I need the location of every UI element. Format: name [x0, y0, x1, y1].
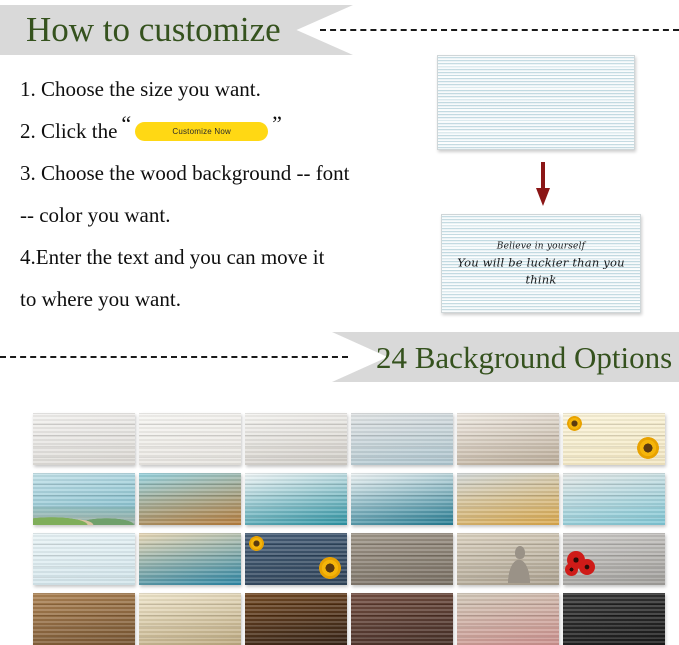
swatch-whitewashed-plank[interactable] — [33, 413, 135, 465]
step-4-line-2: to where you want. — [20, 278, 410, 320]
swatch-turquoise-rustic-plank[interactable] — [139, 473, 241, 525]
swatch-cream-sunflower[interactable] — [563, 413, 665, 465]
infographic-canvas: How to customize 1. Choose the size you … — [0, 0, 679, 642]
step-1: 1. Choose the size you want. — [20, 68, 410, 110]
swatch-navy-wood-sunflower[interactable] — [245, 533, 347, 585]
swatch-buddha-zen-wood[interactable] — [457, 533, 559, 585]
background-options-title: 24 Background Options — [376, 334, 672, 382]
banner-top-dashed-line — [320, 29, 679, 31]
swatch-aqua-weathered-plank[interactable] — [563, 473, 665, 525]
wood-grain — [563, 473, 665, 525]
wood-grain — [351, 533, 453, 585]
wood-grain — [457, 593, 559, 645]
buddha-head-icon — [515, 546, 525, 559]
swatch-vintage-parchment[interactable] — [139, 593, 241, 645]
swatch-golden-sunset-water[interactable] — [457, 473, 559, 525]
step-3-line-1: 3. Choose the wood background -- font — [20, 152, 410, 194]
wood-grain — [33, 413, 135, 465]
step-4-text-line-2: to where you want. — [20, 287, 181, 311]
sign-quote-line-1: Believe in yourself — [442, 239, 640, 254]
wood-grain — [563, 593, 665, 645]
wood-grain — [351, 473, 453, 525]
customize-now-button[interactable]: Customize Now — [135, 122, 268, 141]
step-1-text: 1. Choose the size you want. — [20, 77, 261, 101]
poppy-flower-icon — [565, 563, 578, 576]
quote-close: ” — [272, 103, 282, 145]
blank-sign-preview — [437, 55, 635, 150]
swatch-blue-gray-brick-plank[interactable] — [351, 413, 453, 465]
swatch-soft-white-wood[interactable] — [139, 413, 241, 465]
wood-grain — [139, 593, 241, 645]
wood-grain — [139, 533, 241, 585]
sign-quote-line-2: You will be luckier than you think — [442, 254, 640, 288]
wood-grain — [245, 473, 347, 525]
swatch-gray-wood-red-poppies[interactable] — [563, 533, 665, 585]
swatch-distressed-taupe-wood[interactable] — [457, 413, 559, 465]
wood-texture — [438, 56, 634, 149]
swatch-pale-blue-wood[interactable] — [33, 533, 135, 585]
wood-grain — [33, 593, 135, 645]
banner-bottom-dashed-line — [0, 356, 348, 358]
wood-grain — [351, 593, 453, 645]
wood-grain — [245, 413, 347, 465]
swatch-beach-shoreline[interactable] — [139, 533, 241, 585]
poppy-flower-icon — [579, 559, 595, 575]
wood-grain — [245, 593, 347, 645]
step-4-line-1: 4.Enter the text and you can move it — [20, 236, 410, 278]
wood-grain — [457, 413, 559, 465]
step-2-prefix: 2. Click the — [20, 110, 117, 152]
swatch-deep-mahogany-plank[interactable] — [351, 593, 453, 645]
wood-grain — [139, 413, 241, 465]
instruction-list: 1. Choose the size you want. 2. Click th… — [20, 68, 410, 320]
page-title: How to customize — [26, 6, 281, 54]
sunflower-icon — [637, 437, 659, 459]
step-3-text-line-2: -- color you want. — [20, 203, 170, 227]
swatch-underwater-coral-reef[interactable] — [33, 473, 135, 525]
background-swatch-grid — [33, 413, 665, 645]
sunflower-icon — [319, 557, 341, 579]
step-3-text-line-1: 3. Choose the wood background -- font — [20, 161, 350, 185]
swatch-teal-surf-spray[interactable] — [245, 473, 347, 525]
swatch-dark-walnut-grain[interactable] — [245, 593, 347, 645]
step-2: 2. Click the “ Customize Now ” — [20, 110, 410, 152]
sunflower-icon — [567, 416, 582, 431]
customized-sign-preview: Believe in yourself You will be luckier … — [441, 214, 641, 313]
swatch-pastel-painted-plank[interactable] — [457, 593, 559, 645]
wood-grain — [351, 413, 453, 465]
step-4-text-line-1: 4.Enter the text and you can move it — [20, 245, 324, 269]
wood-grain — [33, 533, 135, 585]
swatch-teal-ocean-horizon[interactable] — [351, 473, 453, 525]
wood-grain — [457, 473, 559, 525]
swatch-gray-brown-barnwood[interactable] — [351, 533, 453, 585]
down-arrow-icon — [536, 162, 550, 206]
wood-grain — [139, 473, 241, 525]
step-3-line-2: -- color you want. — [20, 194, 410, 236]
sunflower-icon — [249, 536, 264, 551]
swatch-white-wood-script[interactable] — [245, 413, 347, 465]
coral-reef-icon — [33, 507, 135, 525]
quote-open: “ — [121, 103, 131, 145]
swatch-black-chalkboard-wood[interactable] — [563, 593, 665, 645]
swatch-warm-brown-plank[interactable] — [33, 593, 135, 645]
sign-quote-text: Believe in yourself You will be luckier … — [442, 239, 640, 288]
